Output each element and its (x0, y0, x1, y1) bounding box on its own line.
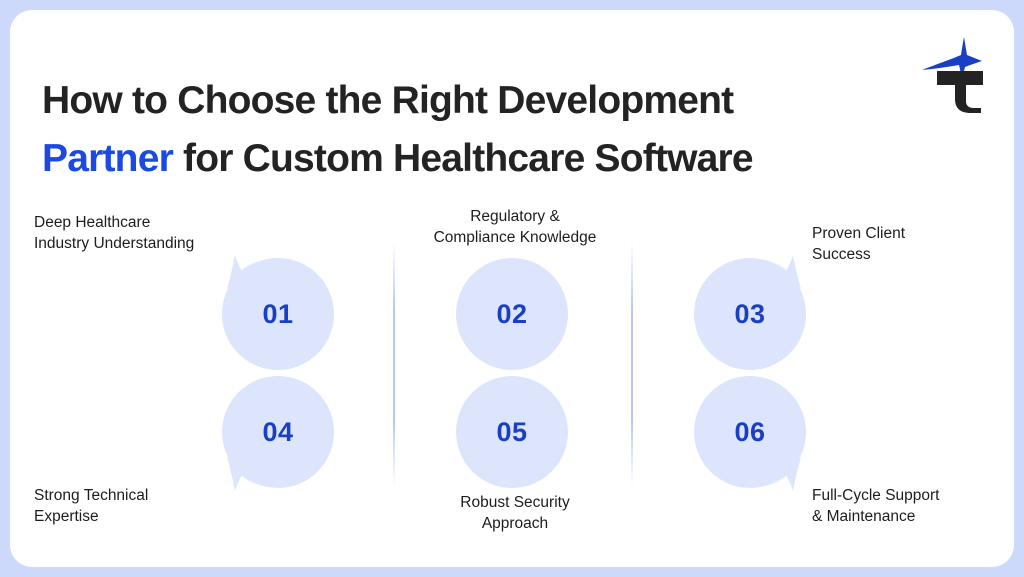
title-line-1: How to Choose the Right Development (42, 79, 733, 122)
step-bubble-02[interactable]: 02 (456, 258, 568, 370)
step-bubble-05[interactable]: 05 (456, 376, 568, 488)
step-bubble-01[interactable]: 01 (222, 258, 334, 370)
step-number-label: 05 (456, 376, 568, 488)
column-divider-1 (393, 242, 395, 487)
step-caption-06: Full-Cycle Support & Maintenance (812, 485, 1014, 527)
step-number-label: 03 (694, 258, 806, 370)
step-number-label: 04 (222, 376, 334, 488)
step-caption-01: Deep Healthcare Industry Understanding (34, 212, 264, 254)
column-divider-2 (631, 242, 633, 487)
tau-logo-icon (921, 35, 993, 115)
step-number-label: 02 (456, 258, 568, 370)
step-caption-03: Proven Client Success (812, 223, 1012, 265)
step-bubble-04[interactable]: 04 (222, 376, 334, 488)
title-accent-word: Partner (42, 137, 173, 180)
step-bubble-06[interactable]: 06 (694, 376, 806, 488)
step-caption-02: Regulatory & Compliance Knowledge (400, 206, 630, 248)
page-title: How to Choose the Right Development Part… (42, 72, 882, 188)
steps-grid: 01 02 03 04 (10, 180, 1014, 567)
infographic-card: How to Choose the Right Development Part… (10, 10, 1014, 567)
title-line-2-rest: for Custom Healthcare Software (173, 137, 753, 180)
step-caption-05: Robust Security Approach (400, 492, 630, 534)
step-number-label: 06 (694, 376, 806, 488)
step-number-label: 01 (222, 258, 334, 370)
step-bubble-03[interactable]: 03 (694, 258, 806, 370)
step-caption-04: Strong Technical Expertise (34, 485, 244, 527)
